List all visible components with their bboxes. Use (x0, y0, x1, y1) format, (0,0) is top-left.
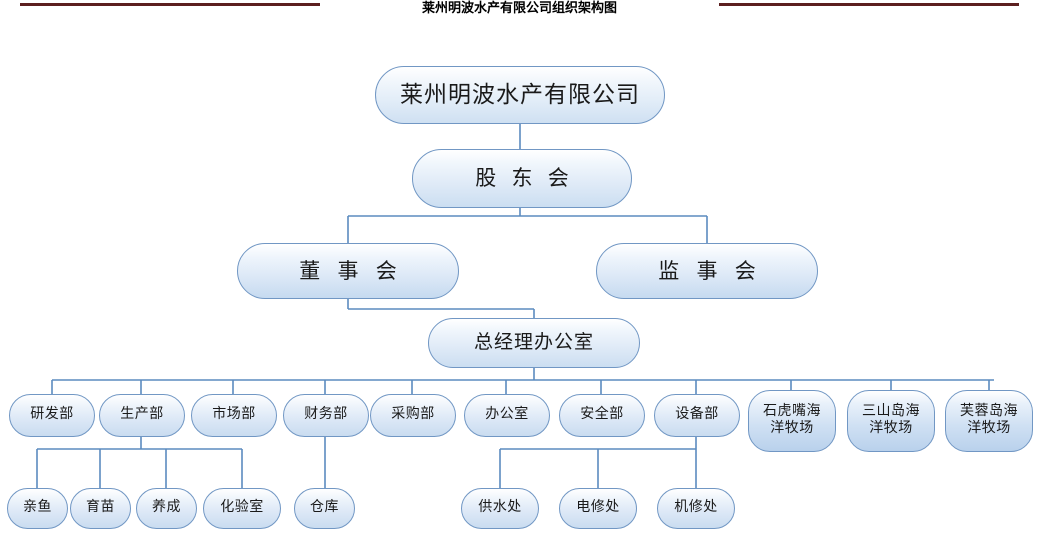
node-board-of-supervisors[interactable]: 监 事 会 (596, 243, 818, 299)
node-sub-electric-repair[interactable]: 电修处 (559, 488, 637, 529)
node-ranch-furongdao[interactable]: 芙蓉岛海 洋牧场 (945, 390, 1033, 452)
node-sub-growout[interactable]: 养成 (136, 488, 197, 529)
node-sub-machine-repair[interactable]: 机修处 (657, 488, 735, 529)
node-gm-office[interactable]: 总经理办公室 (428, 318, 640, 368)
node-ranch-shihuzui[interactable]: 石虎嘴海 洋牧场 (748, 390, 836, 452)
node-dept-production[interactable]: 生产部 (99, 394, 185, 437)
node-ranch-sanshandao[interactable]: 三山岛海 洋牧场 (847, 390, 935, 452)
node-dept-market[interactable]: 市场部 (191, 394, 277, 437)
node-dept-safety[interactable]: 安全部 (559, 394, 645, 437)
node-shareholders-meeting[interactable]: 股 东 会 (412, 149, 632, 208)
node-sub-water-supply[interactable]: 供水处 (461, 488, 539, 529)
node-sub-seedling[interactable]: 育苗 (70, 488, 131, 529)
node-board-of-directors[interactable]: 董 事 会 (237, 243, 459, 299)
page-title: 莱州明波水产有限公司组织架构图 (0, 0, 1039, 18)
node-sub-lab[interactable]: 化验室 (203, 488, 281, 529)
org-chart-canvas: 莱州明波水产有限公司组织架构图 (0, 0, 1039, 550)
node-dept-rd[interactable]: 研发部 (9, 394, 95, 437)
node-sub-broodfish[interactable]: 亲鱼 (7, 488, 68, 529)
node-dept-purchase[interactable]: 采购部 (370, 394, 456, 437)
node-sub-warehouse[interactable]: 仓库 (294, 488, 355, 529)
node-dept-admin[interactable]: 办公室 (464, 394, 550, 437)
node-company[interactable]: 莱州明波水产有限公司 (375, 66, 665, 124)
node-dept-equipment[interactable]: 设备部 (654, 394, 740, 437)
node-dept-finance[interactable]: 财务部 (283, 394, 369, 437)
